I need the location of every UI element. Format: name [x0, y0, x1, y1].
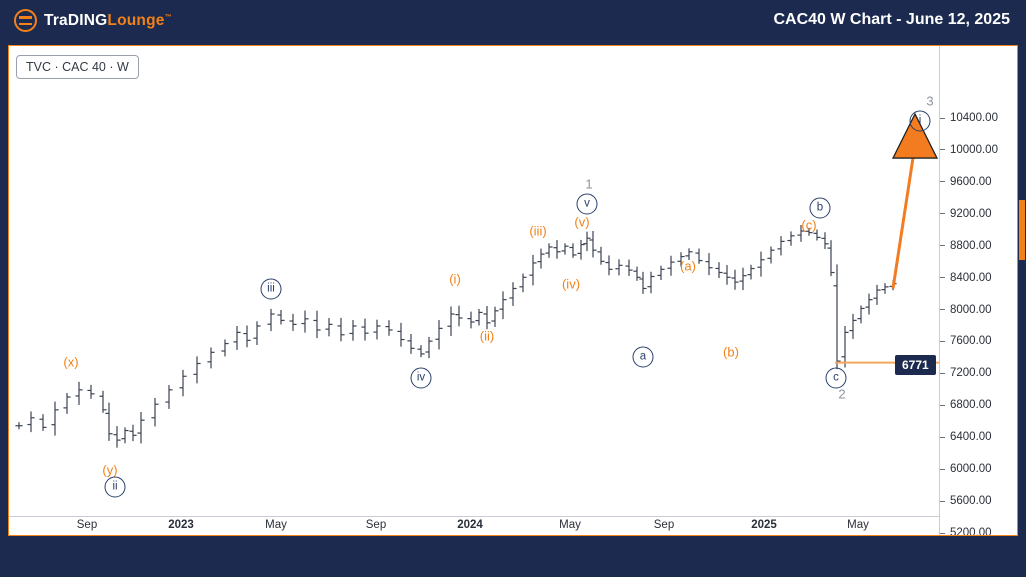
price-tick-mark [940, 118, 945, 119]
price-tick: 6800.00 [940, 398, 1018, 412]
brand-wordmark: TraDINGLounge™ [44, 12, 172, 30]
brand-trademark-icon: ™ [165, 13, 172, 20]
wave-label-circled: b [810, 198, 831, 219]
wave-label: (ii) [480, 329, 494, 344]
symbol-chip[interactable]: TVC · CAC 40 · W [16, 55, 139, 79]
price-tick-label: 10400.00 [950, 111, 998, 125]
wave-label: (v) [574, 215, 589, 230]
price-tick-mark [940, 149, 945, 150]
price-tick-mark [940, 501, 945, 502]
wave-label: 3 [926, 94, 933, 109]
price-tick-label: 6400.00 [950, 430, 992, 444]
price-tick-label: 9600.00 [950, 175, 992, 189]
price-tick: 5600.00 [940, 494, 1018, 508]
price-tick-label: 8000.00 [950, 303, 992, 317]
time-tick-label: Sep [654, 519, 674, 531]
wave-label: (c) [801, 218, 816, 233]
wave-label-circled: c [826, 368, 847, 389]
brand-primary-text: TraDING [44, 12, 107, 29]
price-tick: 8400.00 [940, 271, 1018, 285]
time-tick-label: May [265, 519, 287, 531]
time-tick-label: 2024 [457, 519, 483, 531]
price-tick-label: 7600.00 [950, 334, 992, 348]
price-tick-mark [940, 309, 945, 310]
time-tick-label: 2025 [751, 519, 777, 531]
price-tick-mark [940, 277, 945, 278]
wave-label: (x) [63, 355, 78, 370]
vertical-scrollbar[interactable] [1018, 45, 1026, 536]
price-badge: 6771 [895, 355, 936, 375]
price-tick: 10400.00 [940, 111, 1018, 125]
page-title: CAC40 W Chart - June 12, 2025 [773, 11, 1010, 29]
price-tick-mark [940, 341, 945, 342]
price-tick-label: 9200.00 [950, 207, 992, 221]
price-tick-label: 8400.00 [950, 271, 992, 285]
wave-label-circled: v [577, 194, 598, 215]
price-tick-mark [940, 181, 945, 182]
price-axis[interactable]: 10400.0010000.009600.009200.008800.00840… [939, 46, 1017, 535]
time-tick-label: May [847, 519, 869, 531]
wave-label: 1 [585, 177, 592, 192]
wave-label: 2 [838, 387, 845, 402]
price-tick-label: 7200.00 [950, 366, 992, 380]
app-header: TraDINGLounge™ CAC40 W Chart - June 12, … [0, 0, 1026, 42]
price-tick-mark [940, 245, 945, 246]
wave-label: (iv) [562, 277, 580, 292]
price-tick: 5200.00 [940, 526, 1018, 536]
scrollbar-thumb[interactable] [1019, 200, 1025, 260]
price-tick: 7600.00 [940, 334, 1018, 348]
price-tick-label: 10000.00 [950, 143, 998, 157]
chart-frame: TVC · CAC 40 · W (x)(y)iiiiiiv(i)(ii)(ii… [8, 45, 1018, 536]
price-tick: 9600.00 [940, 175, 1018, 189]
time-tick-label: May [559, 519, 581, 531]
price-tick-mark [940, 405, 945, 406]
time-tick-label: Sep [366, 519, 386, 531]
time-tick-label: 2023 [168, 519, 194, 531]
price-tick-mark [940, 373, 945, 374]
price-tick-label: 8800.00 [950, 239, 992, 253]
price-tick-label: 6800.00 [950, 398, 992, 412]
price-tick-mark [940, 533, 945, 534]
wave-label-circled: a [633, 347, 654, 368]
wave-label-circled: iv [411, 368, 432, 389]
price-tick: 8800.00 [940, 239, 1018, 253]
wave-label: (b) [723, 345, 739, 360]
price-tick: 6000.00 [940, 462, 1018, 476]
time-tick-label: Sep [77, 519, 97, 531]
price-tick-label: 5200.00 [950, 526, 992, 536]
price-tick: 6400.00 [940, 430, 1018, 444]
time-axis[interactable]: Sep2023MaySep2024MaySep2025May [9, 516, 939, 535]
brand-secondary-text: Lounge [107, 12, 164, 29]
price-tick-mark [940, 213, 945, 214]
wave-label-circled: iii [261, 279, 282, 300]
wave-label-circled: i [910, 111, 931, 132]
price-tick: 8000.00 [940, 303, 1018, 317]
price-tick: 9200.00 [940, 207, 1018, 221]
price-tick-mark [940, 469, 945, 470]
price-tick-label: 6000.00 [950, 462, 992, 476]
price-tick-label: 5600.00 [950, 494, 992, 508]
wave-label: (i) [449, 272, 461, 287]
wave-label-circled: ii [105, 477, 126, 498]
wave-label: (y) [102, 463, 117, 478]
price-series-svg [9, 46, 939, 516]
tradinglounge-logo-icon [14, 9, 37, 32]
chart-plot-area[interactable] [9, 46, 939, 516]
wave-label: (a) [680, 259, 696, 274]
price-tick-mark [940, 437, 945, 438]
price-tick: 10000.00 [940, 143, 1018, 157]
price-tick: 7200.00 [940, 366, 1018, 380]
brand-logo: TraDINGLounge™ [14, 9, 172, 32]
wave-label: (iii) [529, 224, 546, 239]
